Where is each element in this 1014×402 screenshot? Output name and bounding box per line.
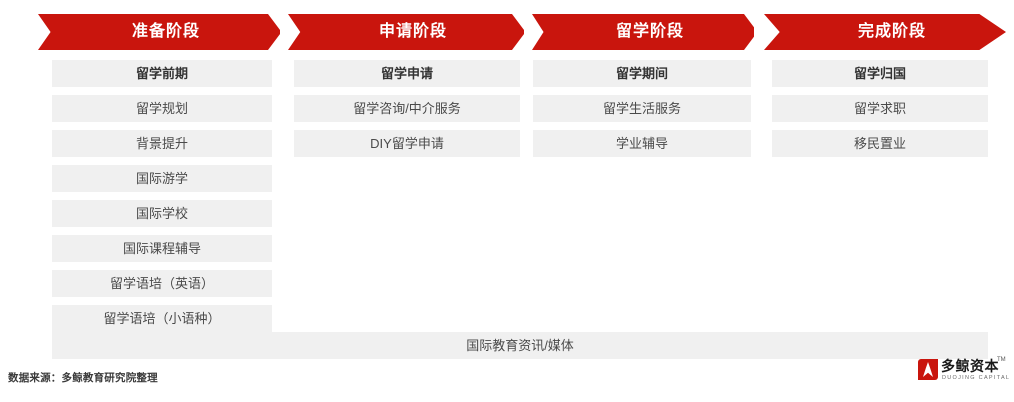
stage-column-2: 留学申请 留学咨询/中介服务 DIY留学申请 [294,60,520,165]
stage-banner-1[interactable]: 准备阶段 [38,14,280,50]
stage-item[interactable]: 学业辅导 [533,130,751,157]
stage-item[interactable]: 留学期间 [533,60,751,87]
stage-item[interactable]: 留学归国 [772,60,988,87]
stage-column-3: 留学期间 留学生活服务 学业辅导 [533,60,751,165]
stage-item[interactable]: 背景提升 [52,130,272,157]
company-logo: 多鲸资本 DUOJING CAPITAL TM [918,358,1006,388]
stage-item[interactable]: 留学前期 [52,60,272,87]
stage-item[interactable]: 留学求职 [772,95,988,122]
stage-item[interactable]: 留学语培（英语） [52,270,272,297]
stage-banner-3[interactable]: 留学阶段 [532,14,754,50]
stage-title-3: 留学阶段 [602,24,684,40]
stage-column-4: 留学归国 留学求职 移民置业 [772,60,988,165]
stage-banner-4[interactable]: 完成阶段 [764,14,1006,50]
trademark-icon: TM [997,357,1006,364]
stage-item[interactable]: 移民置业 [772,130,988,157]
stage-columns: 留学前期 留学规划 背景提升 国际游学 国际学校 国际课程辅导 留学语培（英语）… [0,60,1014,322]
stage-item[interactable]: DIY留学申请 [294,130,520,157]
stage-title-2: 申请阶段 [365,24,447,40]
logo-name-cn: 多鲸资本 [941,358,999,374]
logo-name-en: DUOJING CAPITAL [942,375,1010,382]
stage-column-1: 留学前期 留学规划 背景提升 国际游学 国际学校 国际课程辅导 留学语培（英语）… [52,60,272,340]
stage-item[interactable]: 国际学校 [52,200,272,227]
stage-item[interactable]: 留学语培（小语种） [52,305,272,332]
stage-item[interactable]: 国际游学 [52,165,272,192]
stage-item[interactable]: 留学申请 [294,60,520,87]
stage-item[interactable]: 留学咨询/中介服务 [294,95,520,122]
stage-banner-2[interactable]: 申请阶段 [288,14,524,50]
stage-title-1: 准备阶段 [118,24,200,40]
bottom-bar-media[interactable]: 国际教育资讯/媒体 [52,332,988,359]
stage-item[interactable]: 国际课程辅导 [52,235,272,262]
stage-item[interactable]: 留学生活服务 [533,95,751,122]
stage-item[interactable]: 留学规划 [52,95,272,122]
stage-title-4: 完成阶段 [844,24,926,40]
source-note: 数据来源：多鲸教育研究院整理 [8,370,158,385]
whale-icon [918,359,938,380]
stage-banner-row: 准备阶段 申请阶段 留学阶段 完成阶段 [0,14,1014,50]
